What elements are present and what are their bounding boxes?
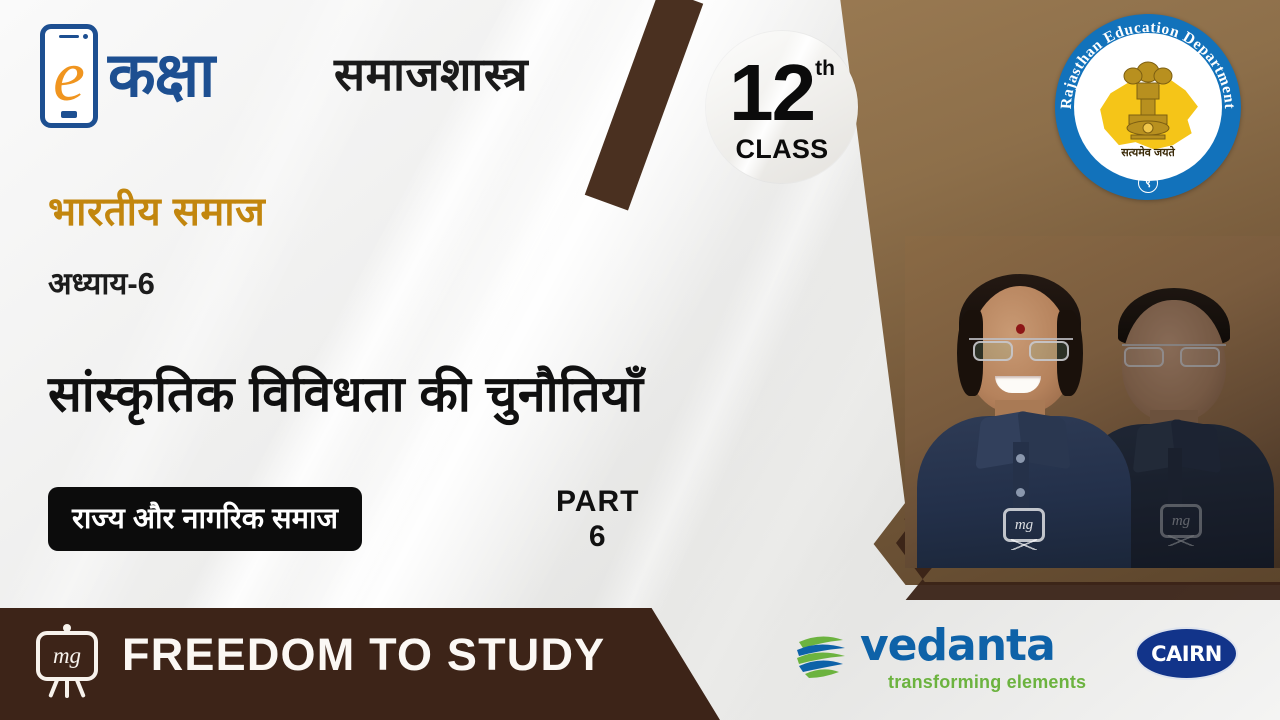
vedanta-globe-icon <box>793 628 849 684</box>
logo-wordmark: कक्षा <box>108 45 214 107</box>
ekaksha-logo[interactable]: e कक्षा <box>40 24 214 128</box>
class-ordinal: th <box>815 58 835 79</box>
easel-legs <box>46 677 88 698</box>
mg-mark: mg <box>53 643 81 669</box>
shirt-mg-logo: mg <box>1003 508 1045 542</box>
class-number: 12 <box>729 53 814 133</box>
bindi <box>1016 324 1025 334</box>
shirt-mg-logo: mg <box>1160 504 1202 538</box>
phone-icon: e <box>40 24 98 128</box>
chapter-label: अध्याय-6 <box>48 262 155 304</box>
easel-knob <box>63 624 71 632</box>
part-number: 6 <box>556 520 639 555</box>
book-title: भारतीय समाज <box>48 182 265 237</box>
cairn-logo: CAIRN <box>1135 627 1238 680</box>
emblem-inner-disc: सत्यमेव जयते <box>1074 33 1222 181</box>
class-badge: 12 th CLASS <box>706 31 858 183</box>
vedanta-wordmark: vedanta transforming elements <box>860 624 1086 693</box>
glasses-icon <box>969 338 1073 360</box>
page-title: सांस्कृतिक विविधता की चुनौतियाँ <box>48 358 644 426</box>
logo-letter-e: e <box>53 47 85 106</box>
vedanta-tagline: transforming elements <box>888 672 1086 693</box>
phone-home-button <box>61 111 77 118</box>
vedanta-logo: vedanta transforming elements <box>793 624 1086 693</box>
mg-blackboard-icon: mg <box>36 631 98 681</box>
glasses-icon <box>1122 344 1226 366</box>
emblem-motto: सत्यमेव जयते <box>1121 145 1175 160</box>
class-number-row: 12 th <box>729 53 835 133</box>
title-slide: mg mg e कक्षा समाजशास <box>0 0 1280 720</box>
class-word: CLASS <box>735 134 828 165</box>
cairn-name: CAIRN <box>1151 642 1222 666</box>
emblem-bottom-mark: ९ <box>1138 173 1158 193</box>
subject-title: समाजशास्त्र <box>334 42 528 104</box>
phone-speaker <box>59 35 79 38</box>
part-label: PART <box>556 485 639 520</box>
ashoka-lion-capital-icon <box>1117 57 1179 145</box>
topic-badge: राज्य और नागरिक समाज <box>48 487 362 551</box>
instructors-photo: mg mg <box>905 236 1280 568</box>
footer-tagline: FREEDOM TO STUDY <box>122 629 605 681</box>
rajasthan-education-department-emblem: Rajasthan Education Department सत्यमेव <box>1055 14 1241 200</box>
part-indicator: PART 6 <box>556 485 639 555</box>
vedanta-name: vedanta <box>860 624 1086 668</box>
instructor-female: mg <box>917 268 1131 568</box>
